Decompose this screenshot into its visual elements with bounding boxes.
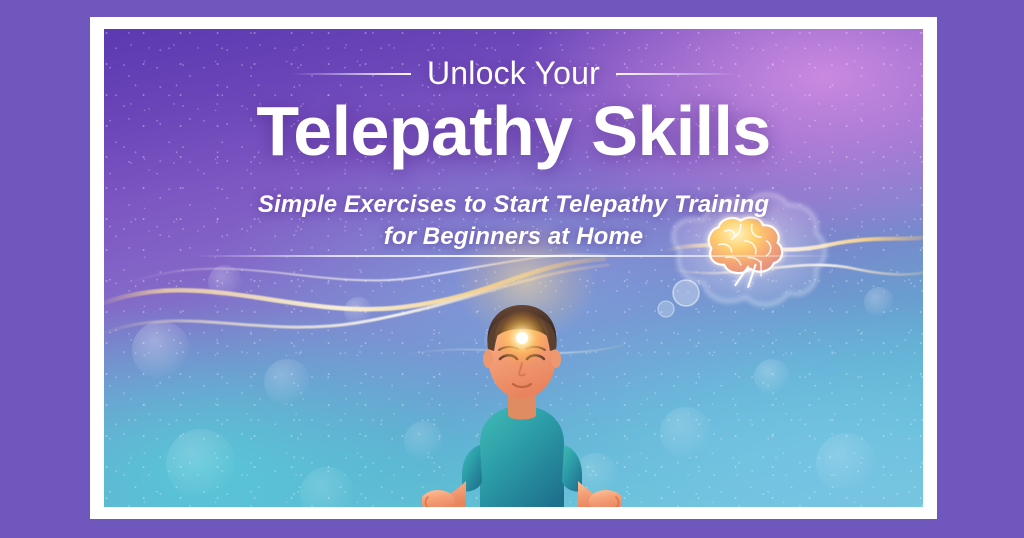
bokeh-orb (754, 359, 790, 395)
bokeh-orb (264, 359, 310, 405)
bokeh-orb (660, 407, 712, 459)
poster-frame: Unlock Your Telepathy Skills Simple Exer… (0, 0, 1024, 538)
bokeh-orb (864, 287, 894, 317)
bokeh-orb (300, 467, 354, 507)
poster-subtitle-line-1: Simple Exercises to Start Telepathy Trai… (104, 189, 923, 221)
poster-subtitle-line-2: for Beginners at Home (104, 221, 923, 253)
poster-eyebrow: Unlock Your (427, 55, 600, 92)
eyebrow-row: Unlock Your (104, 55, 923, 92)
bokeh-orb (208, 265, 242, 299)
bokeh-orb (816, 433, 876, 493)
bokeh-orb (344, 297, 372, 325)
bokeh-orb (166, 429, 236, 499)
white-inner-frame: Unlock Your Telepathy Skills Simple Exer… (90, 17, 937, 519)
bokeh-orb (132, 321, 190, 379)
poster-subtitle: Simple Exercises to Start Telepathy Trai… (104, 189, 923, 253)
poster-artwork: Unlock Your Telepathy Skills Simple Exer… (104, 29, 923, 507)
meditating-person (422, 275, 622, 507)
decorative-rule-right (616, 73, 736, 75)
poster-headline: Telepathy Skills (104, 89, 923, 173)
decorative-rule-left (291, 73, 411, 75)
horizontal-divider (194, 255, 834, 257)
